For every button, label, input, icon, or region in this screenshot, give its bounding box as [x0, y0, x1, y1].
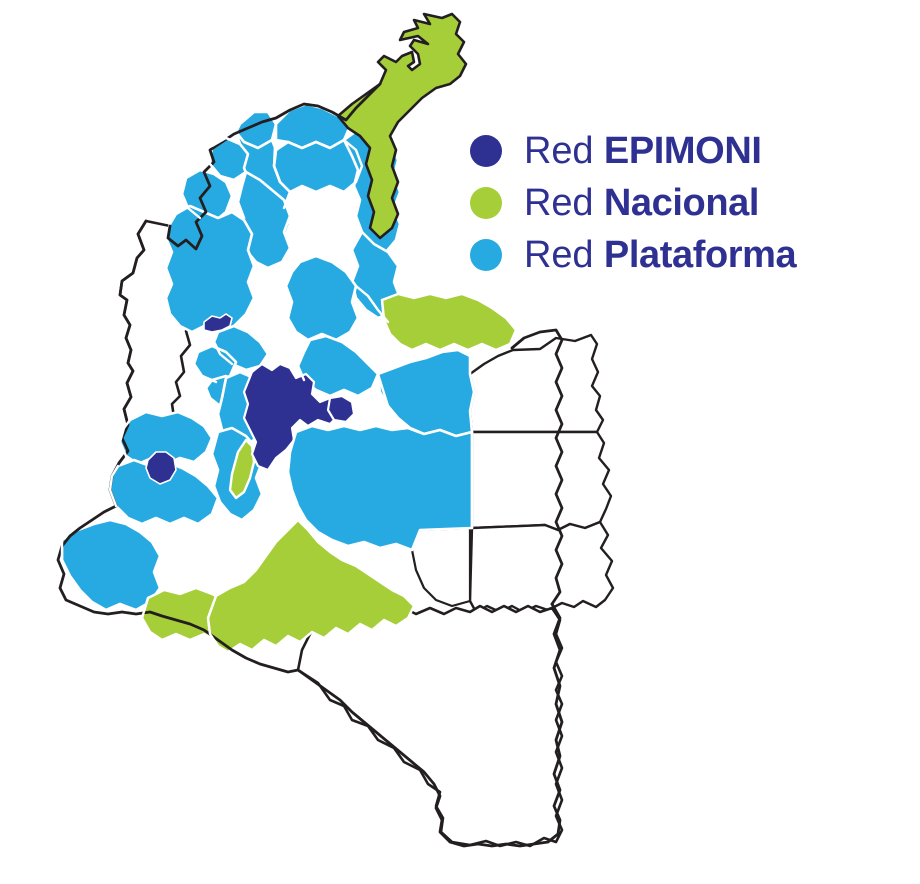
region-antioquia[interactable] — [166, 206, 254, 332]
map-plataforma-regions — [62, 104, 474, 610]
legend-label-epimoni: Red EPIMONI — [524, 130, 762, 172]
region-vaupes[interactable] — [470, 522, 613, 612]
region-vichada[interactable] — [470, 335, 603, 432]
legend: Red EPIMONI Red Nacional Red Plataforma — [470, 128, 796, 278]
legend-label-nacional: Red Nacional — [524, 182, 759, 224]
region-guaviare[interactable] — [412, 528, 470, 606]
legend-prefix-epimoni: Red — [524, 130, 604, 172]
region-la-guajira[interactable] — [338, 14, 466, 238]
region-casanare[interactable] — [378, 350, 474, 436]
legend-item-plataforma[interactable]: Red Plataforma — [470, 232, 796, 278]
map-figure: Red EPIMONI Red Nacional Red Plataforma — [0, 0, 920, 884]
region-narino[interactable] — [62, 520, 160, 610]
legend-dot-plataforma — [470, 239, 502, 271]
legend-dot-nacional — [470, 187, 502, 219]
legend-name-plataforma: Plataforma — [604, 234, 796, 276]
legend-name-epimoni: EPIMONI — [604, 130, 762, 172]
legend-item-epimoni[interactable]: Red EPIMONI — [470, 128, 796, 174]
legend-label-plataforma: Red Plataforma — [524, 234, 796, 276]
region-bogota[interactable] — [328, 396, 354, 422]
region-arauca[interactable] — [382, 294, 516, 350]
legend-name-nacional: Nacional — [604, 182, 759, 224]
legend-dot-epimoni — [470, 135, 502, 167]
region-guainia[interactable] — [472, 432, 611, 530]
region-santander[interactable] — [286, 256, 358, 340]
legend-prefix-plataforma: Red — [524, 234, 604, 276]
legend-item-nacional[interactable]: Red Nacional — [470, 180, 796, 226]
region-amazonas[interactable] — [298, 606, 562, 846]
legend-prefix-nacional: Red — [524, 182, 604, 224]
